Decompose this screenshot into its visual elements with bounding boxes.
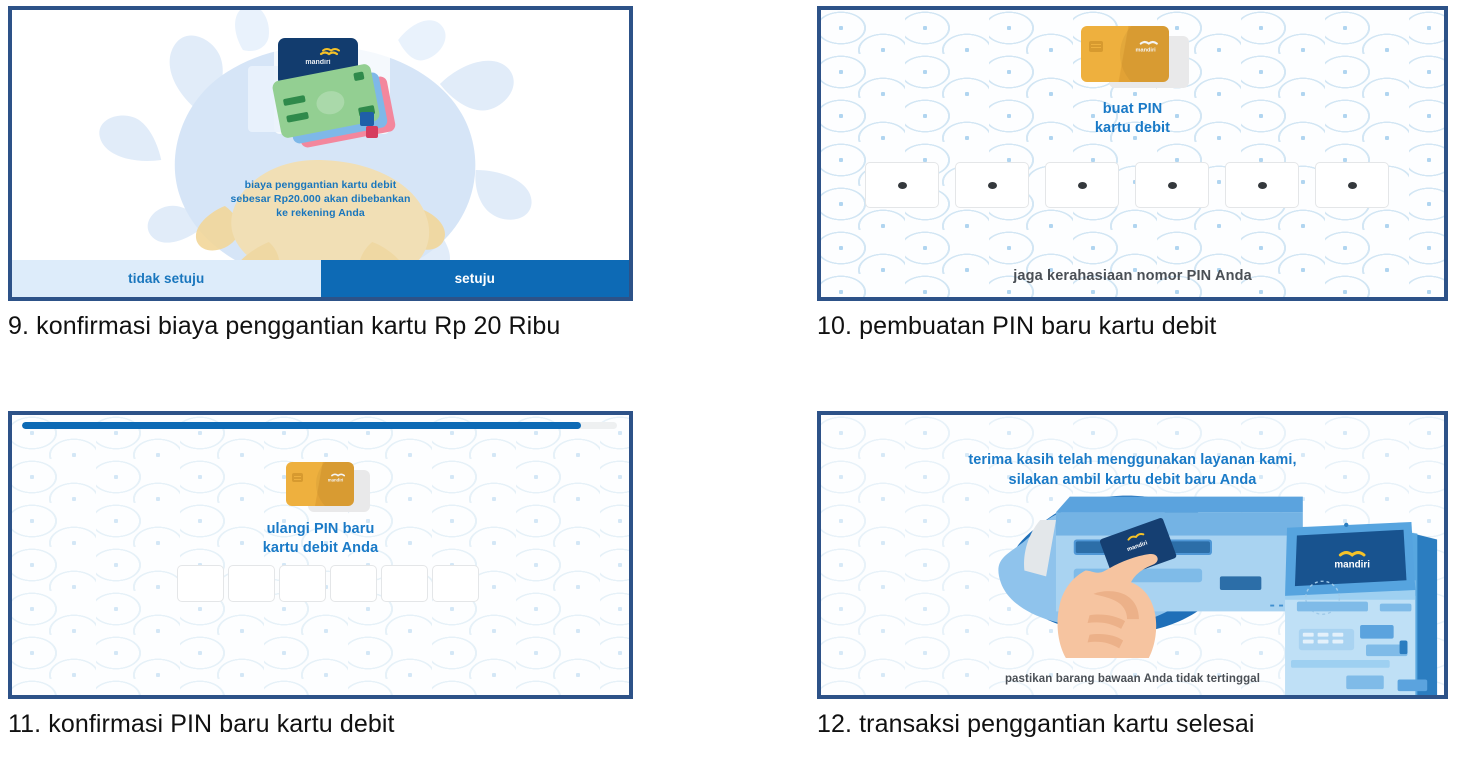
atm-screen-step-10: mandiri buat PIN kartu debit jaga keraha…: [821, 10, 1444, 297]
atm-screen-step-12: terima kasih telah menggunakan layanan k…: [821, 415, 1444, 695]
repeat-pin-heading-line-2: kartu debit Anda: [12, 539, 629, 558]
pin-digit-6[interactable]: [432, 565, 479, 602]
pin-dot-icon: [1078, 182, 1087, 189]
create-pin-heading-line-1: buat PIN: [821, 100, 1444, 119]
thank-you-heading-line-2: silakan ambil kartu debit baru Anda: [821, 470, 1444, 490]
thank-you-heading: terima kasih telah menggunakan layanan k…: [821, 450, 1444, 490]
accept-button[interactable]: setuju: [321, 260, 630, 297]
fee-headline-line-3: ke rekening Anda: [12, 206, 629, 220]
panel-step-9: mandiri: [8, 6, 633, 301]
pin-digit-2[interactable]: [955, 162, 1029, 208]
pin-input-row[interactable]: [865, 162, 1389, 208]
panel-step-10: mandiri buat PIN kartu debit jaga keraha…: [817, 6, 1448, 301]
mandiri-logo-icon: mandiri: [322, 468, 349, 486]
green-card-chip: [353, 71, 364, 81]
pin-dot-icon: [1348, 182, 1357, 189]
thank-you-heading-line-1: terima kasih telah menggunakan layanan k…: [821, 450, 1444, 470]
pin-secrecy-hint: jaga kerahasiaan nomor PIN Anda: [821, 268, 1444, 284]
pin-digit-1[interactable]: [865, 162, 939, 208]
pin-digit-2[interactable]: [228, 565, 275, 602]
fee-headline-line-2: sebesar Rp20.000 akan dibebankan: [12, 192, 629, 206]
svg-text:mandiri: mandiri: [305, 59, 330, 66]
card-replacement-fee-illustration: mandiri: [12, 10, 629, 262]
create-pin-heading: buat PIN kartu debit: [821, 100, 1444, 137]
svg-text:mandiri: mandiri: [1334, 560, 1370, 571]
gold-card-illustration: mandiri: [1077, 20, 1197, 100]
pin-digit-4[interactable]: [1135, 162, 1209, 208]
pin-digit-4[interactable]: [330, 565, 377, 602]
pin-digit-5[interactable]: [1225, 162, 1299, 208]
pin-digit-1[interactable]: [177, 565, 224, 602]
mandiri-logo-icon: mandiri: [1128, 34, 1163, 56]
panel-step-12: terima kasih telah menggunakan layanan k…: [817, 411, 1448, 699]
green-card-highlight: [314, 88, 346, 116]
svg-text:mandiri: mandiri: [1135, 47, 1156, 53]
caption-step-9: 9. konfirmasi biaya penggantian kartu Rp…: [8, 312, 560, 341]
pin-dot-icon: [898, 182, 907, 189]
belongings-reminder: pastikan barang bawaan Anda tidak tertin…: [821, 673, 1444, 685]
caption-step-11: 11. konfirmasi PIN baru kartu debit: [8, 710, 395, 739]
pin-digit-6[interactable]: [1315, 162, 1389, 208]
gold-card: mandiri: [1081, 26, 1169, 82]
repeat-pin-heading: ulangi PIN baru kartu debit Anda: [12, 520, 629, 557]
progress-bar-track: [22, 422, 617, 429]
green-card-stripe-2: [286, 112, 309, 123]
pin-digit-3[interactable]: [1045, 162, 1119, 208]
decline-button[interactable]: tidak setuju: [12, 260, 321, 297]
atm-screen-step-11: mandiri ulangi PIN baru kartu debit Anda: [12, 415, 629, 695]
create-pin-heading-line-2: kartu debit: [821, 119, 1444, 138]
pin-input-row[interactable]: [177, 565, 479, 602]
pin-digit-3[interactable]: [279, 565, 326, 602]
svg-text:mandiri: mandiri: [328, 478, 344, 483]
gold-card: mandiri: [286, 462, 354, 506]
progress-bar-fill: [22, 422, 581, 429]
screenshot-root: mandiri: [0, 0, 1457, 761]
pin-digit-5[interactable]: [381, 565, 428, 602]
pin-dot-icon: [1168, 182, 1177, 189]
accent-square-red: [366, 126, 378, 138]
repeat-pin-heading-line-1: ulangi PIN baru: [12, 520, 629, 539]
atm-screen-step-9: mandiri: [12, 10, 629, 297]
caption-step-12: 12. transaksi penggantian kartu selesai: [817, 710, 1255, 739]
panel-step-11: mandiri ulangi PIN baru kartu debit Anda: [8, 411, 633, 699]
fee-action-buttons: tidak setuju setuju: [12, 260, 629, 297]
fee-headline: biaya penggantian kartu debit sebesar Rp…: [12, 178, 629, 220]
caption-step-10: 10. pembuatan PIN baru kartu debit: [817, 312, 1216, 341]
fee-headline-line-1: biaya penggantian kartu debit: [12, 178, 629, 192]
gold-card-illustration: mandiri: [282, 457, 378, 523]
pin-dot-icon: [988, 182, 997, 189]
green-card-stripe-1: [283, 95, 306, 106]
card-chip-icon: [292, 473, 303, 482]
accent-square-blue: [360, 112, 374, 126]
card-chip-icon: [1089, 41, 1103, 52]
pin-dot-icon: [1258, 182, 1267, 189]
